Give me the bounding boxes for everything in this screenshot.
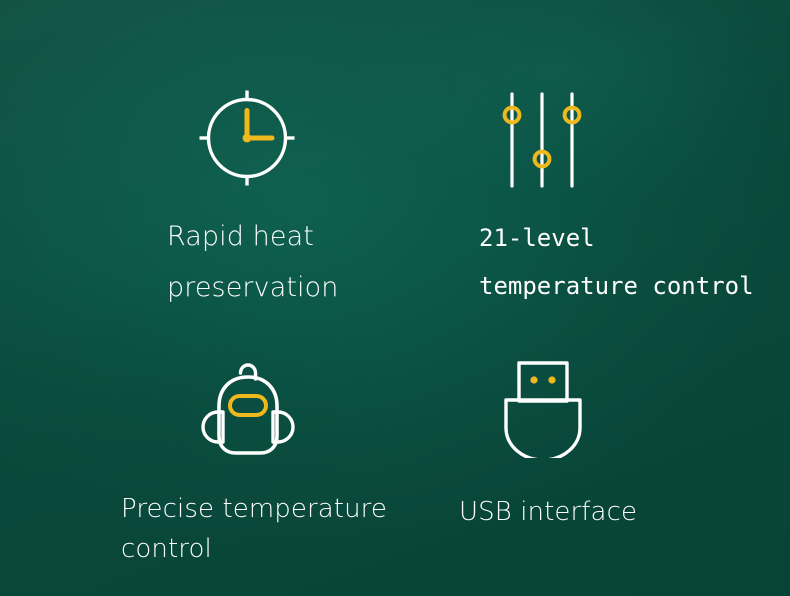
usb-icon — [500, 358, 586, 458]
feature-highlights-panel: Rapid heat preservation 21-level tempera… — [0, 0, 790, 596]
backpack-icon — [196, 356, 300, 460]
feature-label-usb-interface: USB interface — [459, 492, 759, 532]
sliders-icon — [502, 92, 582, 188]
feature-label-rapid-heat: Rapid heat preservation — [167, 211, 467, 313]
feature-label-precise-temperature-control: Precise temperature control — [121, 489, 451, 569]
feature-label-21-level-temperature-control: 21-level temperature control — [479, 214, 789, 310]
clock-icon — [198, 89, 296, 187]
